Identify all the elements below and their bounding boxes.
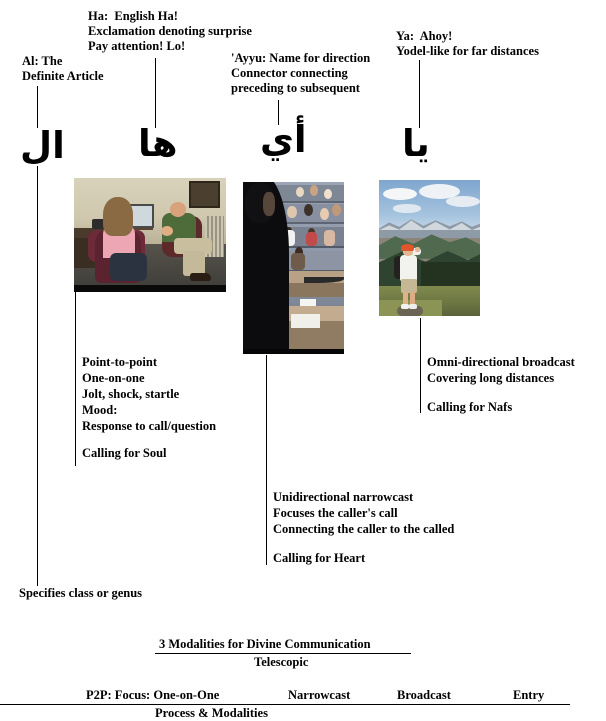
caption-ya-line1: Ya: Ahoy! [396,29,452,44]
footer-cell-narrowcast: Narrowcast [288,688,350,703]
caption-ayyu-line3: preceding to subsequent [231,81,360,96]
detail-ya-line1: Omni-directional broadcast [427,355,575,370]
arabic-glyph-ha: ها [138,124,178,164]
detail-ha-line3: Jolt, shock, startle [82,387,179,402]
detail-ayyu-line2: Focuses the caller's call [273,506,398,521]
leader-line-ya [419,60,420,128]
detail-ha-line4: Mood: [82,403,117,418]
footer-cell-broadcast: Broadcast [397,688,451,703]
center-sublabel: Telescopic [254,655,308,670]
footer-cell-p2p: P2P: Focus: One-on-One [86,688,219,703]
caption-ya-line2: Yodel-like for far distances [396,44,539,59]
detail-ha-line1: Point-to-point [82,355,157,370]
detail-ya-line2: Covering long distances [427,371,554,386]
bracket-line-ha [75,292,76,466]
calling-ya: Calling for Nafs [427,400,512,415]
diagram-canvas: Al: The Definite Article Ha: English Ha!… [0,0,606,721]
footer-cell-entry: Entry [513,688,544,703]
office-conversation-photo [74,178,226,292]
calling-ha: Calling for Soul [82,446,167,461]
center-label-rule [155,653,411,654]
caption-al-bottom: Specifies class or genus [19,586,142,601]
caption-ayyu-line1: 'Ayyu: Name for direction [231,51,370,66]
detail-ayyu-line1: Unidirectional narrowcast [273,490,413,505]
caption-al-line2: Definite Article [22,69,104,84]
arabic-glyph-ya: يا [402,124,430,164]
caption-ha-line2: Exclamation denoting surprise [88,24,252,39]
arabic-glyph-ayyu: أي [260,120,307,160]
detail-ha-line5: Response to call/question [82,419,216,434]
arabic-glyph-al: ال [20,126,65,166]
calling-ayyu: Calling for Heart [273,551,365,566]
bracket-line-ayyu [266,355,267,565]
caption-al-line1: Al: The [22,54,62,69]
lecture-hall-photo [243,182,344,354]
caption-ha-line3: Pay attention! Lo! [88,39,185,54]
center-label: 3 Modalities for Divine Communication [159,637,371,652]
leader-line-ha [155,58,156,128]
caption-ayyu-line2: Connector connecting [231,66,348,81]
caption-ha-line1: Ha: English Ha! [88,9,178,24]
bracket-line-ya [420,318,421,413]
leader-line-al [37,86,38,128]
mountain-hiker-photo [379,180,480,316]
footer-title: Process & Modalities [155,706,268,721]
footer-rule [0,704,570,705]
detail-ha-line2: One-on-one [82,371,145,386]
spine-line-al [37,166,38,586]
detail-ayyu-line3: Connecting the caller to the called [273,522,454,537]
